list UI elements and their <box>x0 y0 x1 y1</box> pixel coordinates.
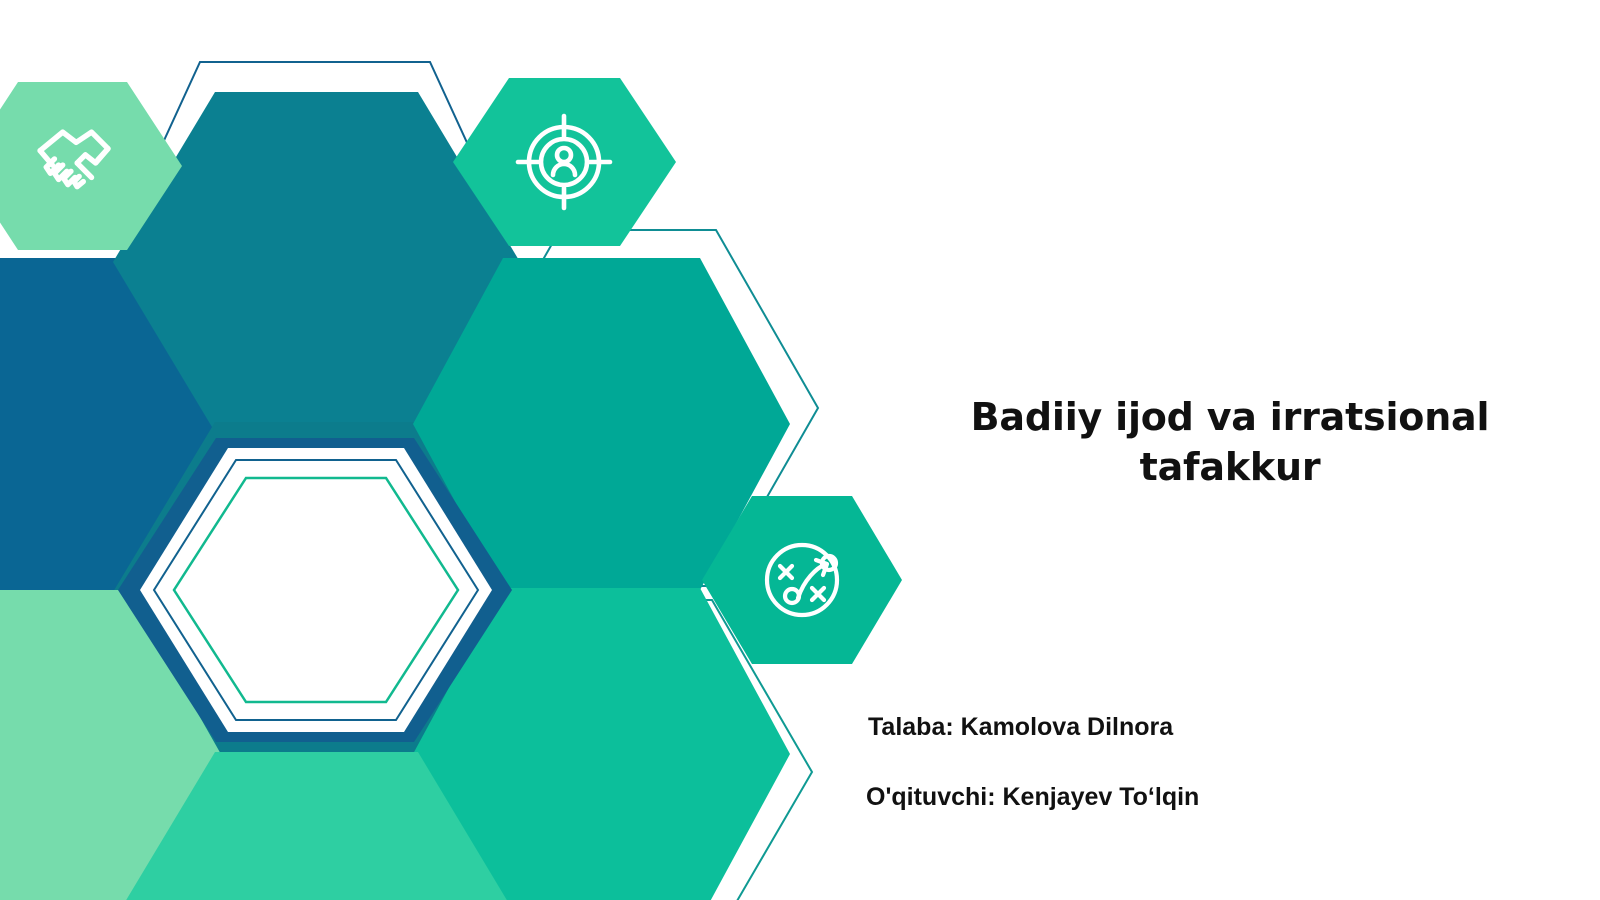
page-title: Badiiy ijod va irratsional tafakkur <box>940 392 1520 492</box>
title-block: Badiiy ijod va irratsional tafakkur <box>940 392 1520 492</box>
credit-student-line: Talaba: Kamolova Dilnora <box>854 712 1594 742</box>
text-column: Badiiy ijod va irratsional tafakkur Tala… <box>840 0 1600 900</box>
hexagon-decoration-artwork <box>0 0 960 900</box>
slide-canvas: Badiiy ijod va irratsional tafakkur Tala… <box>0 0 1600 900</box>
credits-block: Talaba: Kamolova Dilnora O'qituvchi: Ken… <box>854 712 1594 812</box>
credit-teacher-line: O'qituvchi: Kenjayev To‘lqin <box>854 782 1594 812</box>
